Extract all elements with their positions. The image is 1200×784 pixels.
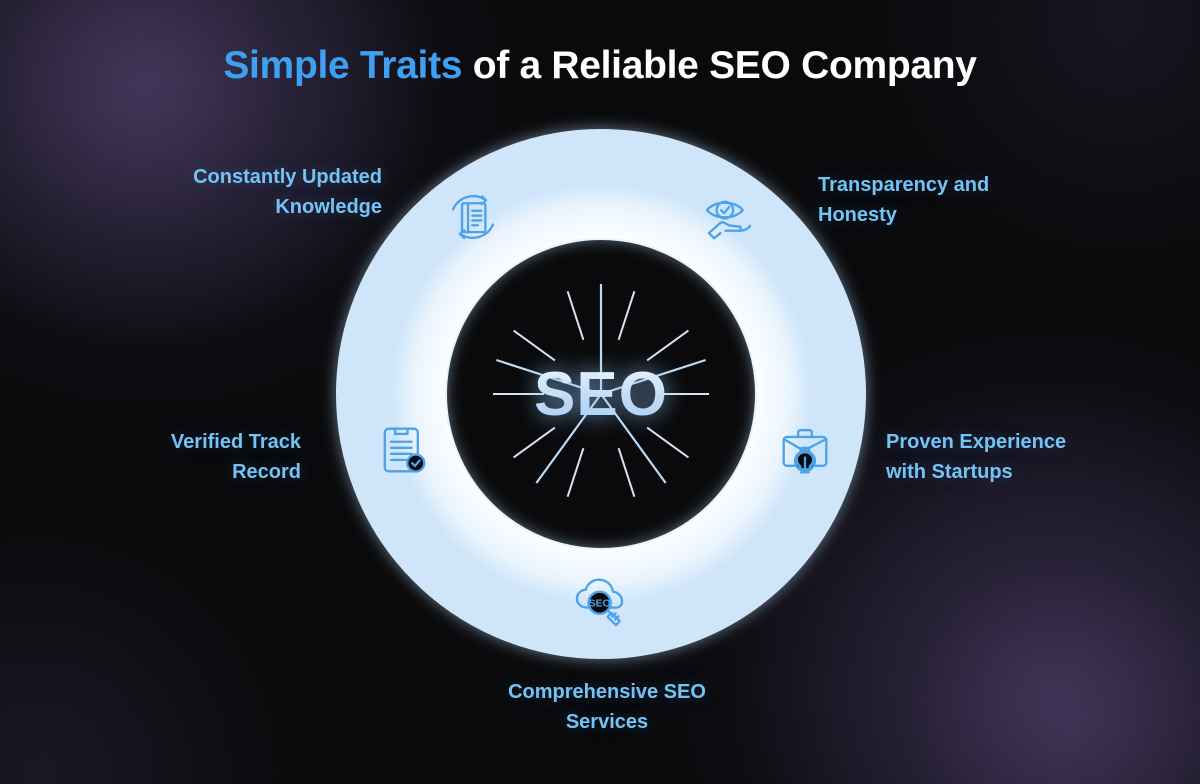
- inner-spoke-1: [619, 291, 635, 340]
- ring-separator-5: [496, 360, 601, 394]
- segment-label-line1: Comprehensive SEO: [452, 677, 762, 707]
- infographic-canvas: Simple Traits of a Reliable SEO Company: [0, 0, 1200, 784]
- segment-label-transparency-and-honesty: Transparency and Honesty: [818, 170, 1068, 230]
- segment-label-line1: Transparency and: [818, 170, 1068, 200]
- segment-label-constantly-updated-knowledge: Constantly Updated Knowledge: [104, 162, 382, 222]
- inner-spoke-10: [568, 291, 584, 340]
- inner-spoke-9: [514, 331, 555, 361]
- page-title-plain: of a Reliable SEO Company: [462, 44, 977, 87]
- inner-spoke-6: [568, 448, 584, 497]
- segment-label-proven-experience-with-startups: Proven Experience with Startups: [886, 427, 1126, 487]
- segment-label-line2: with Startups: [886, 457, 1126, 487]
- inner-spoke-2: [647, 331, 688, 361]
- ring-separator-3: [601, 394, 666, 483]
- ring-separator-4: [536, 394, 601, 483]
- inner-spoke-4: [647, 428, 688, 458]
- inner-spoke-7: [514, 428, 555, 458]
- segment-label-line1: Constantly Updated: [104, 162, 382, 192]
- segment-label-line1: Verified Track: [104, 427, 301, 457]
- ring-separator-2: [601, 360, 706, 394]
- segment-label-line1: Proven Experience: [886, 427, 1126, 457]
- page-title: Simple Traits of a Reliable SEO Company: [0, 40, 1200, 92]
- segment-label-line2: Services: [452, 707, 762, 737]
- inner-spoke-5: [619, 448, 635, 497]
- page-title-accent: Simple Traits: [223, 44, 462, 87]
- segment-label-verified-track-record: Verified Track Record: [104, 427, 301, 487]
- background-glow-bottom-left: [0, 514, 300, 784]
- segment-label-line2: Record: [104, 457, 301, 487]
- segment-label-line2: Honesty: [818, 200, 1068, 230]
- segment-label-line2: Knowledge: [104, 192, 382, 222]
- outer-ring-separators: [496, 284, 705, 483]
- segment-label-comprehensive-seo-services: Comprehensive SEO Services: [452, 677, 762, 737]
- seo-traits-wheel: [336, 129, 866, 659]
